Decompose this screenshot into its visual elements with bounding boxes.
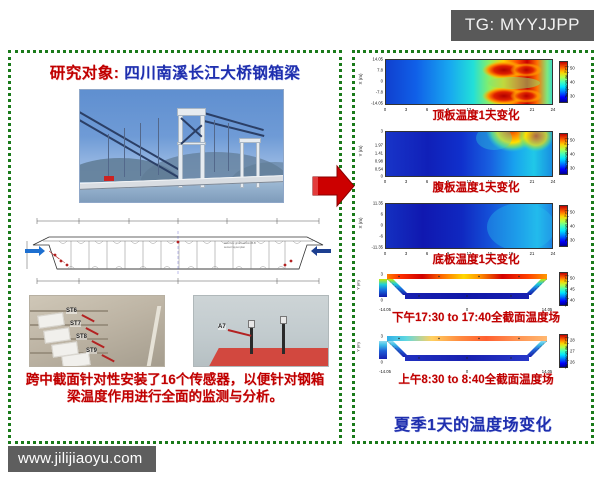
deck-anemometer-photo: A7 bbox=[193, 295, 329, 367]
y-tick: 6 bbox=[381, 212, 383, 217]
y-tick: 1.41 bbox=[375, 151, 383, 156]
chart4-colorbar-title: Temperature (°C) bbox=[564, 275, 569, 307]
y-tick: 0.98 bbox=[375, 159, 383, 164]
chart-afternoon-section-temperature: Y (m) 3 0 bbox=[359, 271, 593, 323]
hanger-cable bbox=[214, 120, 215, 172]
sensor-pointer-arrow bbox=[92, 340, 105, 348]
right-panel-temperature-field: X (m) 14.05 7.8 0 -7.8 -14.05 bbox=[352, 50, 594, 444]
page-title: 研究对象: 四川南溪长江大桥钢箱梁 bbox=[11, 61, 339, 83]
chart4-section-plot bbox=[379, 271, 555, 305]
colorbar-tick: 50 bbox=[570, 276, 575, 281]
hanger-cable bbox=[124, 128, 125, 177]
sensor-pointer-arrow bbox=[82, 314, 95, 322]
y-tick: 14.05 bbox=[373, 57, 383, 62]
sensor-label-st7: ST7 bbox=[70, 321, 81, 327]
sensor-pointer-arrow bbox=[102, 354, 115, 362]
chart5-section-plot bbox=[379, 333, 555, 367]
sensor-label-st8: ST8 bbox=[76, 334, 87, 340]
tower-crossbeam bbox=[177, 108, 206, 116]
colorbar-tick: 30 bbox=[570, 238, 575, 243]
colorbar-tick: 30 bbox=[570, 94, 575, 99]
chart2-y-ticks: 3 1.97 1.41 0.98 0.54 0 bbox=[365, 129, 383, 177]
hanger-cable bbox=[108, 134, 109, 178]
chart2-heatmap-plot bbox=[385, 131, 553, 177]
colorbar-tick: 40 bbox=[570, 298, 575, 303]
insulation-bag bbox=[37, 312, 65, 328]
y-tick: 0.54 bbox=[375, 167, 383, 172]
colorbar-tick: 50 bbox=[570, 210, 575, 215]
chart3-heatmap-plot bbox=[385, 203, 553, 249]
chart1-y-axis-label: X (m) bbox=[358, 74, 363, 85]
steel-box-girder-cross-section-drawing: steel box girder section B-B sensor layo… bbox=[19, 211, 337, 289]
sensor-installation-caption: 跨中截面针对性安装了16个传感器，以便针对钢箱梁温度作用进行全面的监测与分析。 bbox=[21, 371, 329, 406]
y-tick: 0 bbox=[381, 174, 383, 179]
sensor-label-st9: ST9 bbox=[86, 348, 97, 354]
interior-rail bbox=[147, 306, 162, 366]
hanger-cable bbox=[158, 118, 159, 175]
red-right-arrow-icon bbox=[311, 163, 355, 209]
site-watermark: www.jilijiaoyu.com bbox=[8, 446, 156, 472]
svg-text:steel box girder section B-B: steel box girder section B-B bbox=[224, 241, 256, 245]
chart5-caption: 上午8:30 to 8:40全截面温度场 bbox=[359, 371, 593, 387]
chart2-y-axis-label: Y (m) bbox=[358, 146, 363, 157]
y-tick: -6 bbox=[379, 234, 383, 239]
chart2-caption: 腹板温度1天变化 bbox=[359, 179, 593, 195]
chart5-colorbar-title: Temperature (°C) bbox=[564, 337, 569, 369]
svg-text:sensor layout plan: sensor layout plan bbox=[224, 245, 246, 249]
chart3-caption: 底板温度1天变化 bbox=[359, 251, 593, 267]
y-tick: -7.8 bbox=[376, 90, 383, 95]
tower-crossbeam bbox=[239, 138, 261, 143]
colorbar-tick: 45 bbox=[570, 287, 575, 292]
chart2-colorbar-title: Temperature (°C) bbox=[564, 138, 569, 170]
colorbar-tick: 50 bbox=[570, 66, 575, 71]
colorbar-tick: 27 bbox=[570, 349, 575, 354]
y-tick: 7.8 bbox=[377, 68, 383, 73]
sensor-label-st6: ST6 bbox=[66, 308, 77, 314]
chart3-y-ticks: 11.35 6 0 -6 -11.35 bbox=[365, 201, 383, 249]
chart4-y-axis-label: Y (m) bbox=[355, 280, 360, 290]
anemometer-head bbox=[280, 316, 287, 324]
study-title-prefix: 研究对象: bbox=[50, 65, 120, 82]
anemometer-head bbox=[248, 320, 255, 328]
bridge-tower-leg bbox=[200, 108, 205, 188]
chart1-caption: 顶板温度1天变化 bbox=[359, 107, 593, 123]
y-tick: -14.05 bbox=[371, 101, 383, 106]
chart1-y-ticks: 14.05 7.8 0 -7.8 -14.05 bbox=[365, 57, 383, 105]
left-panel-study-object: 研究对象: 四川南溪长江大桥钢箱梁 bbox=[8, 50, 342, 444]
chart-web-plate-temperature: Y (m) 3 1.97 1.41 0.98 0.54 0 bbox=[359, 129, 593, 191]
girder-interior-sensor-photo: ST6 ST7 ST8 ST9 bbox=[29, 295, 165, 367]
chart3-colorbar-title: Temperature (°C) bbox=[564, 210, 569, 242]
suspension-bridge-photo bbox=[79, 89, 284, 203]
chart-top-plate-temperature: X (m) 14.05 7.8 0 -7.8 -14.05 bbox=[359, 57, 593, 119]
y-tick: -11.35 bbox=[371, 245, 383, 250]
colorbar-tick: 40 bbox=[570, 152, 575, 157]
y-tick: 11.35 bbox=[373, 201, 383, 206]
chart4-caption: 下午17:30 to 17:40全截面温度场 bbox=[359, 309, 593, 325]
chart3-y-axis-label: X (m) bbox=[358, 218, 363, 229]
colorbar-tick: 50 bbox=[570, 138, 575, 143]
y-tick: 1.97 bbox=[375, 143, 383, 148]
chart1-colorbar-title: Temperature (°C) bbox=[564, 66, 569, 98]
hanger-cable bbox=[228, 123, 229, 171]
sensor-pointer-arrow bbox=[228, 329, 252, 336]
red-deck-surface bbox=[209, 348, 329, 366]
colorbar-tick: 40 bbox=[570, 80, 575, 85]
chart-bottom-plate-temperature: X (m) 11.35 6 0 -6 -11.35 bbox=[359, 201, 593, 263]
chart5-y-axis-label: Y (m) bbox=[355, 342, 360, 352]
vehicle-on-deck bbox=[104, 176, 114, 181]
colorbar-tick: 26 bbox=[570, 360, 575, 365]
chart-morning-section-temperature: Y (m) 3 0 bbox=[359, 333, 593, 385]
right-panel-title: 夏季1天的温度场变化 bbox=[355, 411, 591, 435]
tg-badge: TG: MYYJJPP bbox=[451, 10, 594, 41]
y-tick: 0 bbox=[381, 223, 383, 228]
sensor-label-a7: A7 bbox=[218, 324, 226, 330]
sensor-pointer-arrow bbox=[86, 327, 99, 335]
y-tick: 3 bbox=[381, 129, 383, 134]
study-title-main: 四川南溪长江大桥钢箱梁 bbox=[124, 65, 300, 82]
insulation-bag bbox=[61, 352, 91, 367]
colorbar-tick: 28 bbox=[570, 338, 575, 343]
colorbar-tick: 30 bbox=[570, 166, 575, 171]
insulation-bag bbox=[43, 327, 71, 343]
y-tick: 0 bbox=[381, 79, 383, 84]
chart1-heatmap-plot bbox=[385, 59, 553, 105]
colorbar-tick: 40 bbox=[570, 224, 575, 229]
hanger-cable bbox=[140, 123, 141, 176]
